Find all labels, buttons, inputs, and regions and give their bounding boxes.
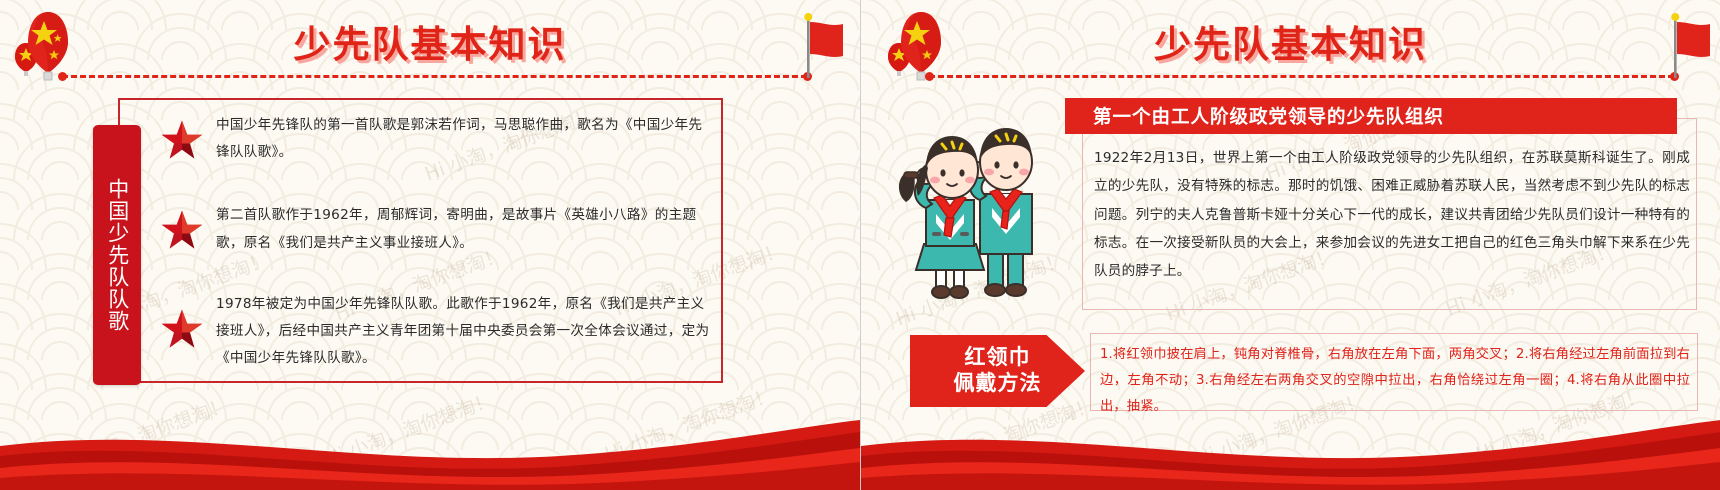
list-item-text: 第二首队歌作于1962年，周郁辉词，寄明曲，是故事片《英雄小八路》的主题歌，原名… [216,202,715,256]
slide-left: Hi 小淘，淘你想淘！ Hi 小淘，淘你想淘！ Hi 小淘，淘你想淘！ Hi 小… [0,0,860,490]
red-star-icon [160,118,204,162]
section-ribbon-heading: 第一个由工人阶级政党领导的少先队组织 [1065,98,1677,134]
bottom-red-wave [861,410,1720,490]
red-flag-icon [798,12,858,80]
page-title: 少先队基本知识 [0,14,860,68]
list-item-text: 1978年被定为中国少年先锋队队歌。此歌作于1962年，原名《我们是共产主义接班… [216,291,715,373]
saluting-young-pioneers-icon [880,118,1055,303]
list-item-text: 中国少年先锋队的第一首队歌是郭沫若作词，马思聪作曲，歌名为《中国少年先锋队队歌》… [216,112,715,166]
arrow-label-line2: 佩戴方法 [954,371,1042,397]
arrow-label-line1: 红领巾 [965,345,1031,371]
red-star-icon [160,208,204,252]
red-star-icon [160,307,204,351]
page-title: 少先队基本知识 [861,14,1720,68]
header-dashed-line [929,75,1674,78]
section-label-vertical: 中国少先队队歌 [93,125,141,385]
list-item: 1978年被定为中国少年先锋队队歌。此歌作于1962年，原名《我们是共产主义接班… [160,291,715,373]
red-flag-icon [1665,12,1720,80]
bottom-red-wave [0,410,860,490]
header-dot-left [925,72,934,81]
instructions-text: 1.将红领巾披在肩上，钝角对脊椎骨，右角放在左角下面，两角交叉；2.将右角经过左… [1100,342,1690,420]
bullet-list: 中国少年先锋队的第一首队歌是郭沫若作词，马思聪作曲，歌名为《中国少年先锋队队歌》… [160,112,715,394]
list-item: 第二首队歌作于1962年，周郁辉词，寄明曲，是故事片《英雄小八路》的主题歌，原名… [160,202,715,256]
header-dashed-line [62,75,807,78]
header-dot-left [58,72,67,81]
list-item: 中国少年先锋队的第一首队歌是郭沫若作词，马思聪作曲，歌名为《中国少年先锋队队歌》… [160,112,715,166]
dual-slide-stage: Hi 小淘，淘你想淘！ Hi 小淘，淘你想淘！ Hi 小淘，淘你想淘！ Hi 小… [0,0,1720,490]
paragraph-text: 1922年2月13日，世界上第一个由工人阶级政党领导的少先队组织，在苏联莫斯科诞… [1094,144,1690,285]
